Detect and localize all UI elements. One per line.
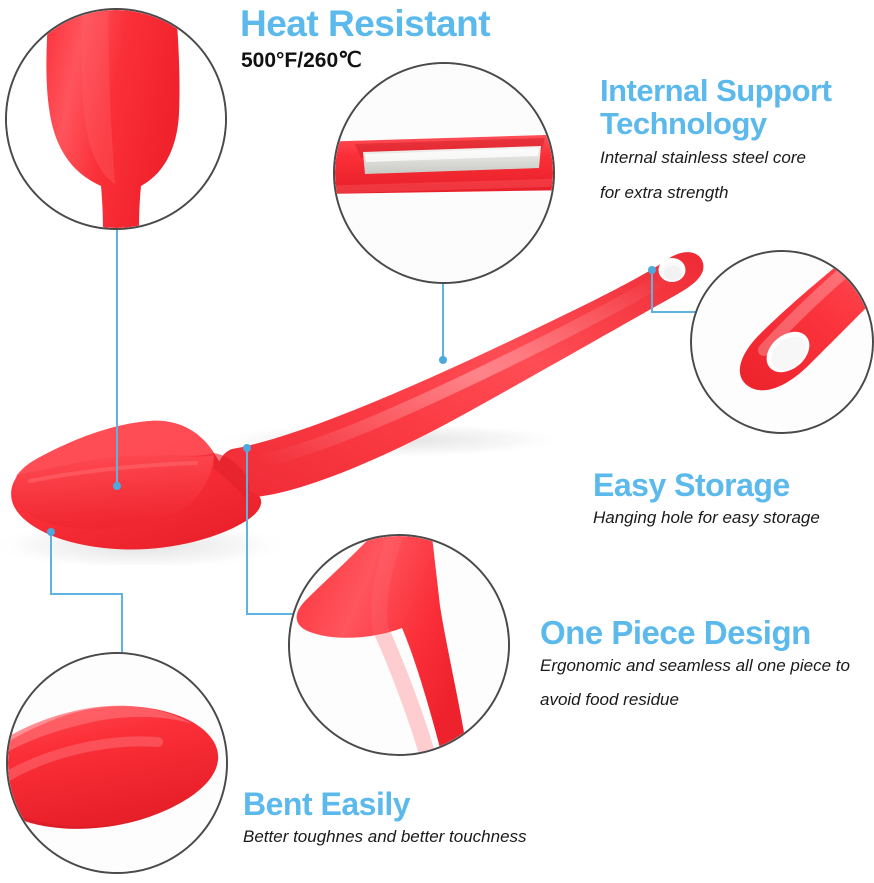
- callout-image-seamless-joint: [290, 536, 508, 754]
- internal-support-line-1: Internal stainless steel core: [600, 148, 806, 168]
- callout-handle-steel-core-closeup: [333, 62, 555, 284]
- one-piece-design-title: One Piece Design: [540, 615, 811, 651]
- callout-image-bent-edge: [8, 654, 226, 872]
- easy-storage-line-1: Hanging hole for easy storage: [593, 508, 820, 528]
- leader-dot-bent-easily: [47, 528, 55, 536]
- internal-support-title: Internal Support Technology: [600, 74, 874, 141]
- callout-seamless-joint-closeup: [288, 534, 510, 756]
- bent-easily-title: Bent Easily: [243, 787, 410, 822]
- callout-image-steel-core: [335, 64, 553, 282]
- internal-support-line-2: for extra strength: [600, 183, 729, 203]
- heat-resistant-title: Heat Resistant: [240, 4, 490, 44]
- callout-bent-edge-closeup: [6, 652, 228, 874]
- product-infographic: Heat Resistant 500°F/260℃ Internal Suppo…: [0, 0, 874, 883]
- leader-dot-heat-resistant: [113, 482, 121, 490]
- callout-hanging-hole-closeup: [690, 250, 874, 434]
- callout-image-spatula-head: [7, 10, 225, 228]
- callout-image-hanging-hole: [692, 252, 872, 432]
- leader-dot-easy-storage: [648, 266, 656, 274]
- easy-storage-title: Easy Storage: [593, 468, 790, 503]
- leader-dot-internal-support: [439, 356, 447, 364]
- bent-easily-line-1: Better toughnes and better touchness: [243, 827, 527, 847]
- one-piece-design-line-1: Ergonomic and seamless all one piece to: [540, 656, 850, 676]
- callout-spatula-head-closeup: [5, 8, 227, 230]
- leader-dot-one-piece-design: [243, 444, 251, 452]
- one-piece-design-line-2: avoid food residue: [540, 690, 679, 710]
- heat-resistant-temperature: 500°F/260℃: [241, 48, 362, 73]
